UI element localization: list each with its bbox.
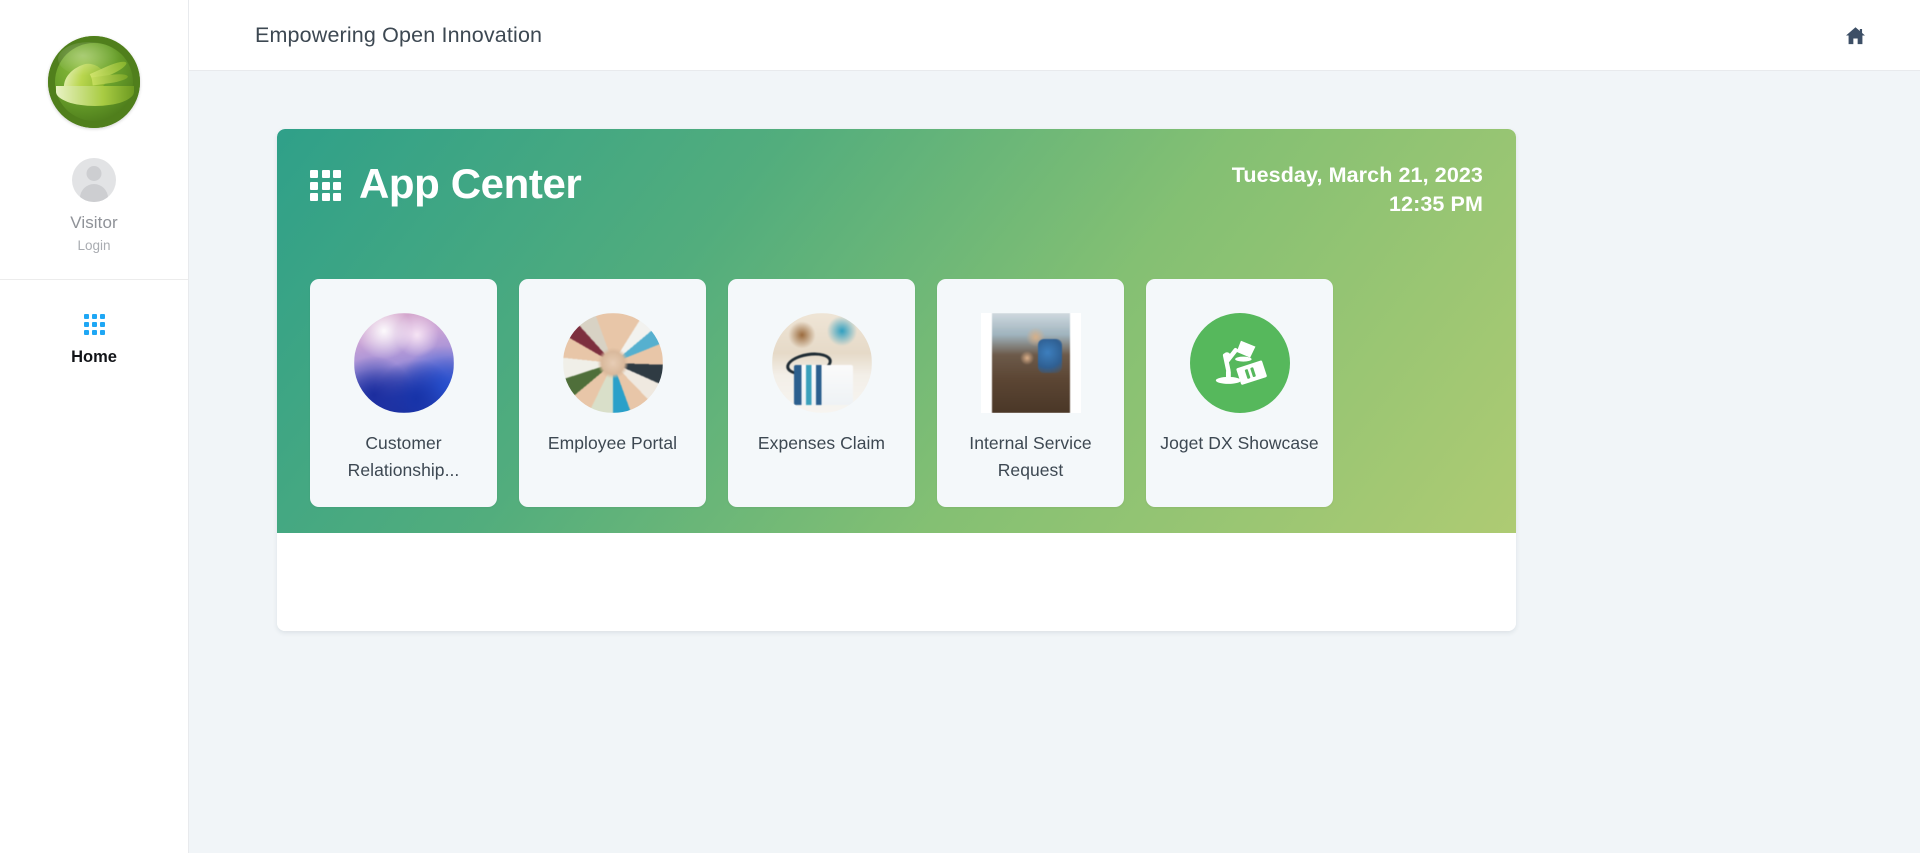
app-tile-label: Expenses Claim	[750, 430, 893, 457]
logo-gloss	[58, 42, 120, 76]
app-center-banner: App Center Tuesday, March 21, 2023 12:35…	[277, 129, 1516, 533]
current-date: Tuesday, March 21, 2023	[1232, 161, 1483, 190]
avatar-body	[80, 184, 108, 202]
avatar-head	[87, 166, 102, 181]
expenses-claim-photo	[772, 313, 872, 413]
app-center-panel: App Center Tuesday, March 21, 2023 12:35…	[277, 129, 1516, 631]
banner-header: App Center Tuesday, March 21, 2023 12:35…	[310, 155, 1483, 219]
employee-portal-photo	[563, 313, 663, 413]
app-tile-label: Internal Service Request	[937, 430, 1124, 483]
user-block: Visitor Login	[0, 128, 188, 280]
topbar: Empowering Open Innovation	[189, 0, 1920, 71]
panel-body	[277, 533, 1516, 631]
app-tile-joget-dx-showcase[interactable]: Joget DX Showcase	[1146, 279, 1333, 507]
login-link[interactable]: Login	[77, 238, 110, 253]
grid-apps-icon	[84, 314, 105, 335]
desk-lamp-icon	[1190, 313, 1290, 413]
crm-photo-thumb	[354, 313, 454, 413]
app-tile-customer-relationship[interactable]: Customer Relationship...	[310, 279, 497, 507]
sidebar-nav: Home	[0, 280, 188, 377]
app-center-title: App Center	[359, 163, 581, 205]
grid-apps-icon	[310, 170, 341, 201]
app-tile-employee-portal[interactable]: Employee Portal	[519, 279, 706, 507]
banner-datetime: Tuesday, March 21, 2023 12:35 PM	[1232, 155, 1483, 219]
logo-sweep-shape	[56, 86, 134, 106]
app-tile-internal-service-request[interactable]: Internal Service Request	[937, 279, 1124, 507]
user-name: Visitor	[70, 213, 118, 233]
user-avatar-icon[interactable]	[72, 158, 116, 202]
app-tile-expenses-claim[interactable]: Expenses Claim	[728, 279, 915, 507]
internal-service-request-photo-thumb	[981, 313, 1081, 413]
employee-portal-photo-thumb	[563, 313, 663, 413]
joget-leaf-logo-icon[interactable]	[48, 36, 140, 128]
app-tiles-list: Customer Relationship... Employee Portal	[310, 279, 1483, 507]
main-area: Empowering Open Innovation App C	[189, 0, 1920, 853]
sidebar-item-label: Home	[71, 348, 117, 367]
content-area: App Center Tuesday, March 21, 2023 12:35…	[189, 71, 1920, 853]
app-tile-label: Customer Relationship...	[310, 430, 497, 483]
internal-service-request-photo	[992, 313, 1070, 413]
sidebar-item-home[interactable]: Home	[0, 308, 188, 377]
app-shell: Visitor Login Home Empowering Open Innov…	[0, 0, 1920, 853]
current-time: 12:35 PM	[1232, 190, 1483, 219]
app-center-title-group: App Center	[310, 155, 581, 205]
home-icon[interactable]	[1840, 20, 1870, 50]
sidebar: Visitor Login Home	[0, 0, 189, 853]
page-title: Empowering Open Innovation	[255, 23, 542, 48]
app-tile-label: Joget DX Showcase	[1152, 430, 1326, 457]
app-tile-label: Employee Portal	[540, 430, 685, 457]
crm-photo	[354, 313, 454, 413]
expenses-claim-photo-thumb	[772, 313, 872, 413]
